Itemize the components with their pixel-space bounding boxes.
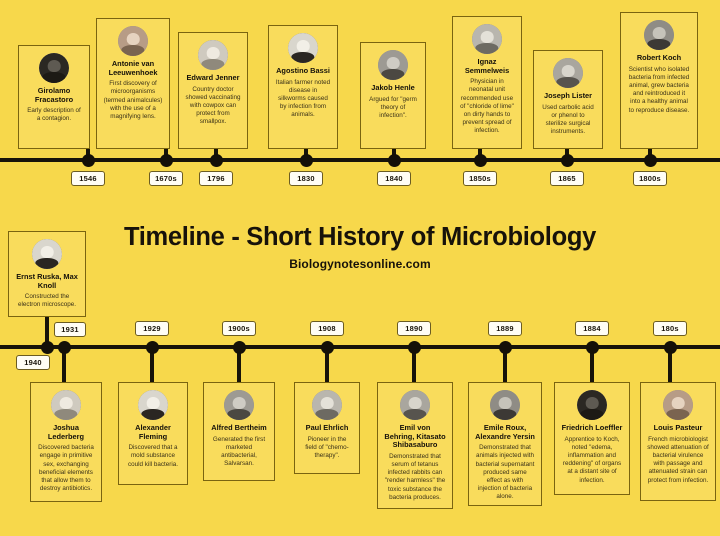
card-description: French microbiologist showed attenuation… xyxy=(647,436,709,485)
timeline-card-1[interactable]: Girolamo FracastoroEarly description of … xyxy=(18,45,90,149)
timeline-node xyxy=(210,154,223,167)
timeline-date-label: 1850s xyxy=(463,171,497,186)
card-person-name: Friedrich Loeffler xyxy=(562,424,623,433)
card-description: Discovered bacteria engage in primitive … xyxy=(37,444,95,493)
timeline-date-label: 1908 xyxy=(310,321,344,336)
timeline-date-label: 1940 xyxy=(16,355,50,370)
card-person-name: Jakob Henle xyxy=(371,84,415,93)
timeline-date-label: 1900s xyxy=(222,321,256,336)
timeline-node xyxy=(388,154,401,167)
timeline-card-4[interactable]: Agostino BassiItalian farmer noted disea… xyxy=(268,25,338,149)
bottom-timeline-rail xyxy=(0,345,720,349)
portrait-girolamo-fracastoro xyxy=(39,53,69,83)
timeline-date-label: 1830 xyxy=(289,171,323,186)
timeline-node xyxy=(41,341,54,354)
timeline-card-16[interactable]: Louis PasteurFrench microbiologist showe… xyxy=(640,382,716,501)
portrait-ignaz-semmelweis xyxy=(472,24,502,54)
portrait-joseph-lister xyxy=(553,58,583,88)
card-description: Scientist who isolated bacteria from inf… xyxy=(627,66,691,115)
card-description: Discovered that a mold substance could k… xyxy=(125,444,181,469)
timeline-date-label: 1865 xyxy=(550,171,584,186)
portrait-joshua-lederberg xyxy=(51,390,81,420)
timeline-card-11[interactable]: Alfred BertheimGenerated the first marke… xyxy=(203,382,275,481)
portrait-emile-roux xyxy=(490,390,520,420)
card-description: Italian farmer noted disease in silkworm… xyxy=(275,79,331,120)
card-person-name: Antonie van Leeuwenhoek xyxy=(103,60,163,77)
timeline-card-lead-ernst-ruska[interactable]: Ernst Ruska, Max KnollConstructed the el… xyxy=(8,231,86,317)
timeline-date-label: 1546 xyxy=(71,171,105,186)
card-description: Demonstrated that serum of tetanus infec… xyxy=(384,453,446,502)
timeline-node xyxy=(82,154,95,167)
timeline-node xyxy=(664,341,677,354)
portrait-agostino-bassi xyxy=(288,33,318,63)
card-person-name: Emile Roux, Alexandre Yersin xyxy=(475,424,535,441)
portrait-friedrich-loeffler xyxy=(577,390,607,420)
timeline-card-6[interactable]: Ignaz SemmelweisPhysician in neonatal un… xyxy=(452,16,522,149)
timeline-node xyxy=(644,154,657,167)
timeline-date-label: 1670s xyxy=(149,171,183,186)
card-person-name: Edward Jenner xyxy=(187,74,240,83)
timeline-card-15[interactable]: Friedrich LoefflerApprentice to Koch, no… xyxy=(554,382,630,495)
portrait-edward-jenner xyxy=(198,40,228,70)
timeline-card-3[interactable]: Edward JennerCountry doctor showed vacci… xyxy=(178,32,248,149)
title-block: Timeline - Short History of Microbiology… xyxy=(0,222,720,271)
timeline-node xyxy=(321,341,334,354)
card-person-name: Joshua Lederberg xyxy=(37,424,95,441)
page-title: Timeline - Short History of Microbiology xyxy=(0,222,720,252)
page-subtitle: Biologynotesonline.com xyxy=(0,257,720,271)
timeline-card-2[interactable]: Antonie van LeeuwenhoekFirst discovery o… xyxy=(96,18,170,149)
timeline-card-7[interactable]: Joseph ListerUsed carbolic acid or pheno… xyxy=(533,50,603,149)
timeline-card-10[interactable]: Alexander FlemingDiscovered that a mold … xyxy=(118,382,188,485)
card-description: Pioneer in the field of "chemo-therapy". xyxy=(301,436,353,461)
portrait-jakob-henle xyxy=(378,50,408,80)
card-description: Generated the first marketed antibacteri… xyxy=(210,436,268,469)
card-description: First discovery of microorganisms (terme… xyxy=(103,80,163,121)
timeline-card-13[interactable]: Emil von Behring, Kitasato ShibasaburoDe… xyxy=(377,382,453,509)
card-person-name: Ernst Ruska, Max Knoll xyxy=(15,273,79,290)
card-description: Used carbolic acid or phenol to steriliz… xyxy=(540,104,596,137)
card-person-name: Louis Pasteur xyxy=(654,424,703,433)
timeline-node xyxy=(408,341,421,354)
timeline-node xyxy=(146,341,159,354)
timeline-node xyxy=(58,341,71,354)
timeline-node xyxy=(233,341,246,354)
card-person-name: Emil von Behring, Kitasato Shibasaburo xyxy=(384,424,446,450)
portrait-antonie-van-leeuwenhoek xyxy=(118,26,148,56)
card-person-name: Joseph Lister xyxy=(544,92,592,101)
portrait-emil-von-behring xyxy=(400,390,430,420)
microbiology-timeline-infographic: Girolamo FracastoroEarly description of … xyxy=(0,0,720,536)
timeline-date-label: 1929 xyxy=(135,321,169,336)
timeline-date-label: 1889 xyxy=(488,321,522,336)
timeline-date-label: 1840 xyxy=(377,171,411,186)
portrait-alexander-fleming xyxy=(138,390,168,420)
timeline-date-label: 1890 xyxy=(397,321,431,336)
timeline-node xyxy=(160,154,173,167)
card-description: Country doctor showed vaccinating with c… xyxy=(185,86,241,127)
timeline-node xyxy=(300,154,313,167)
timeline-card-12[interactable]: Paul EhrlichPioneer in the field of "che… xyxy=(294,382,360,474)
card-description: Constructed the electron microscope. xyxy=(15,293,79,309)
card-person-name: Paul Ehrlich xyxy=(306,424,349,433)
timeline-card-9[interactable]: Joshua LederbergDiscovered bacteria enga… xyxy=(30,382,102,502)
timeline-date-label: 1884 xyxy=(575,321,609,336)
card-person-name: Agostino Bassi xyxy=(276,67,330,76)
top-timeline-rail xyxy=(0,158,720,162)
timeline-node xyxy=(561,154,574,167)
timeline-card-14[interactable]: Emile Roux, Alexandre YersinDemonstrated… xyxy=(468,382,542,506)
portrait-robert-koch xyxy=(644,20,674,50)
timeline-node xyxy=(586,341,599,354)
timeline-card-8[interactable]: Robert KochScientist who isolated bacter… xyxy=(620,12,698,149)
portrait-alfred-bertheim xyxy=(224,390,254,420)
card-person-name: Alexander Fleming xyxy=(125,424,181,441)
card-person-name: Ignaz Semmelweis xyxy=(459,58,515,75)
card-description: Early description of a contagion. xyxy=(25,107,83,123)
card-person-name: Alfred Bertheim xyxy=(211,424,266,433)
timeline-date-label-lead: 1931 xyxy=(54,322,86,337)
card-description: Physician in neonatal unit recommended u… xyxy=(459,78,515,135)
portrait-louis-pasteur xyxy=(663,390,693,420)
portrait-ernst-ruska-max-knoll xyxy=(32,239,62,269)
card-description: Argued for "germ theory of infection". xyxy=(367,96,419,121)
portrait-paul-ehrlich xyxy=(312,390,342,420)
timeline-card-5[interactable]: Jakob HenleArgued for "germ theory of in… xyxy=(360,42,426,149)
card-description: Demonstrated that animals injected with … xyxy=(475,444,535,501)
timeline-node xyxy=(474,154,487,167)
timeline-date-label: 1796 xyxy=(199,171,233,186)
timeline-date-label: 180s xyxy=(653,321,687,336)
timeline-date-label: 1800s xyxy=(633,171,667,186)
card-person-name: Robert Koch xyxy=(637,54,681,63)
card-description: Apprentice to Koch, noted "edema, inflam… xyxy=(561,436,623,485)
timeline-node xyxy=(499,341,512,354)
card-person-name: Girolamo Fracastoro xyxy=(25,87,83,104)
